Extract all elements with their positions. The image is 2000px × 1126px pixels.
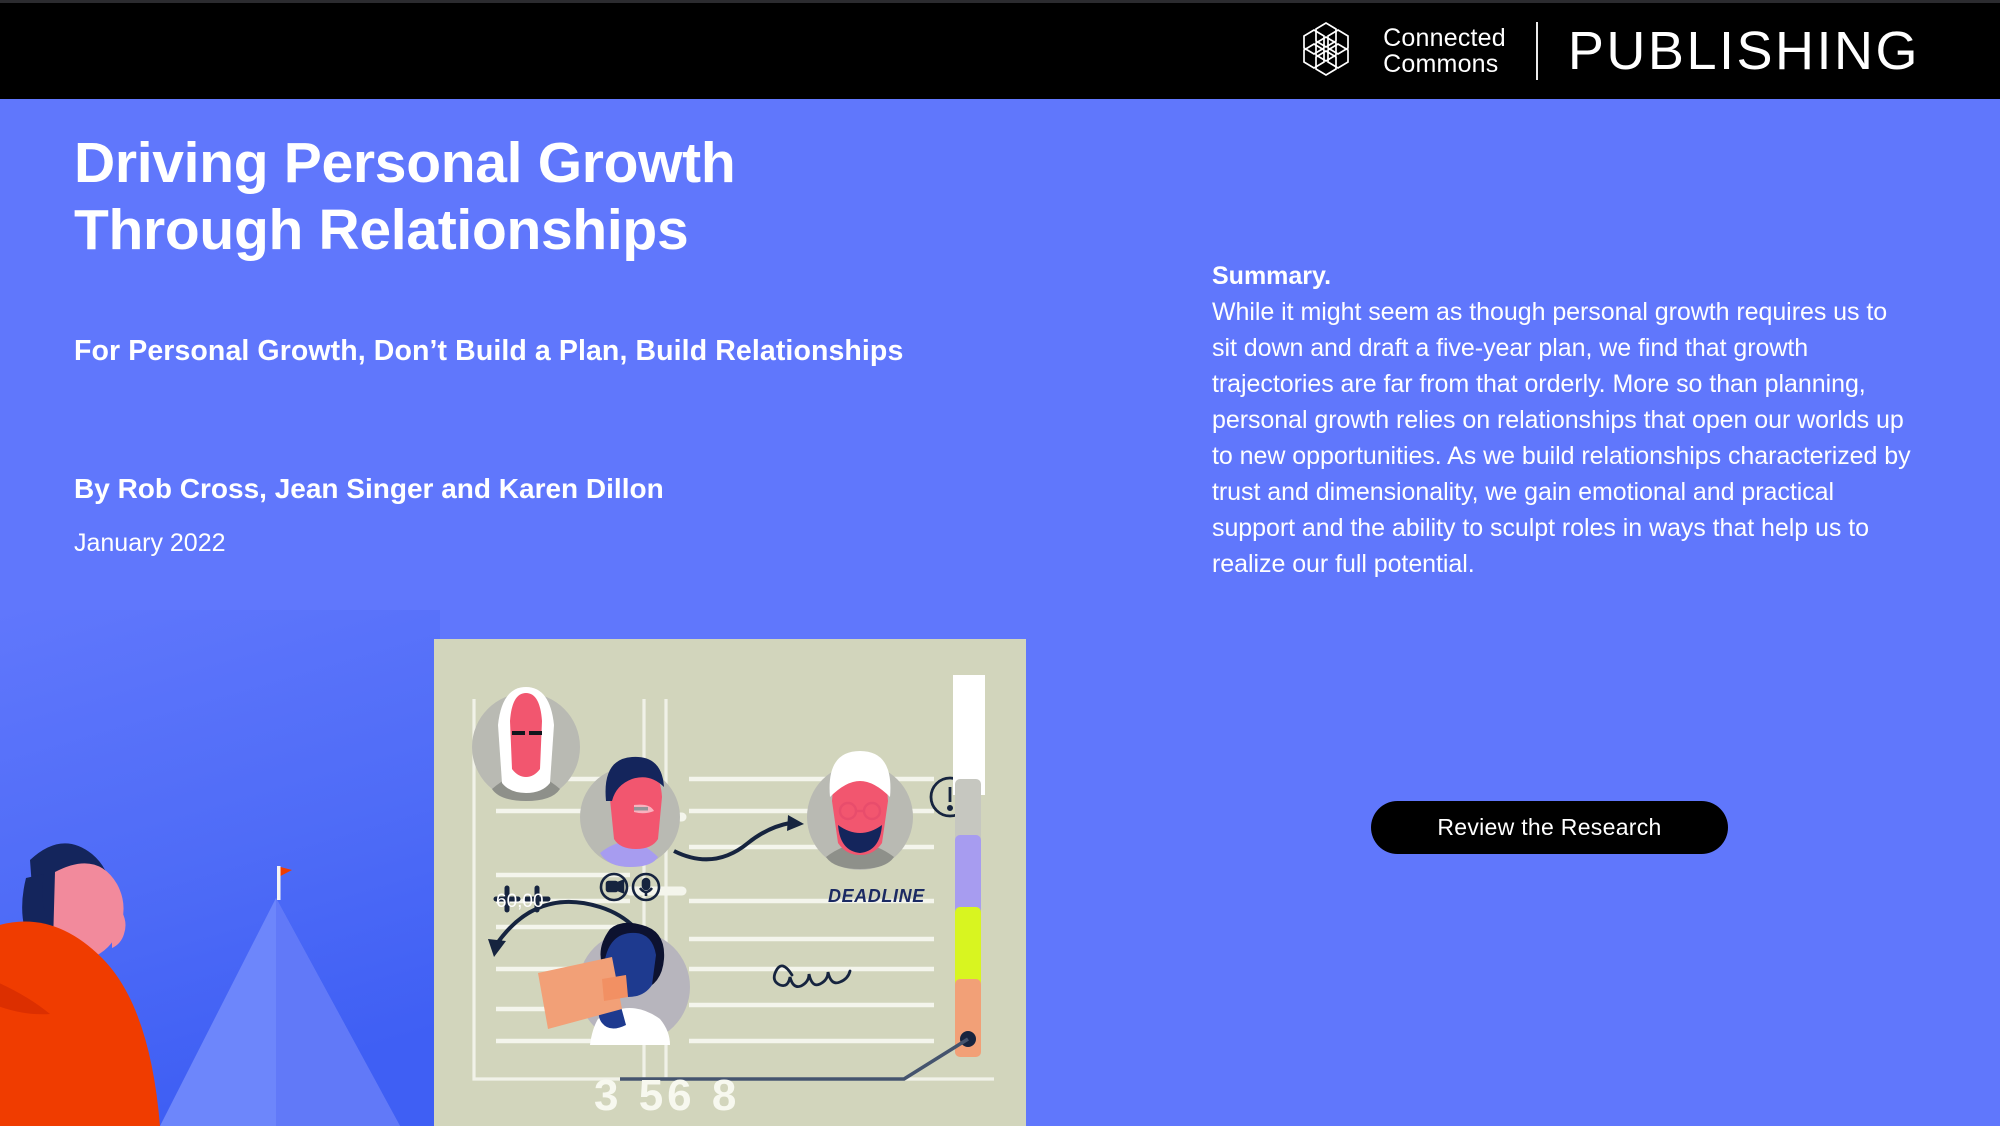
page-title-line2: Through Relationships bbox=[74, 198, 688, 262]
page-root: Connected Commons PUBLISHING Driving Per… bbox=[0, 0, 2000, 1126]
summary-text: While it might seem as though personal g… bbox=[1212, 294, 1912, 582]
site-header: Connected Commons PUBLISHING bbox=[0, 0, 2000, 99]
status-color-bar bbox=[953, 675, 985, 1057]
author-byline: By Rob Cross, Jean Singer and Karen Dill… bbox=[74, 473, 664, 505]
brand-divider bbox=[1536, 22, 1538, 80]
brand-name: Connected Commons bbox=[1383, 25, 1506, 77]
review-the-research-button[interactable]: Review the Research bbox=[1371, 801, 1728, 854]
amount-label: 60,00 bbox=[496, 891, 544, 913]
brand-lockup[interactable]: Connected Commons PUBLISHING bbox=[1295, 21, 1920, 81]
publication-date: January 2022 bbox=[74, 529, 226, 558]
page-subtitle: For Personal Growth, Don’t Build a Plan,… bbox=[74, 335, 903, 368]
summary-label: Summary. bbox=[1212, 258, 1912, 294]
summary-block: Summary. While it might seem as though p… bbox=[1212, 258, 1912, 582]
mountain-scene-illustration bbox=[0, 610, 440, 1126]
counter-digits: 3 56 8 bbox=[594, 1071, 740, 1121]
collaboration-illustration-card: 60,00 bbox=[434, 639, 1026, 1126]
brand-name-line1: Connected bbox=[1383, 25, 1506, 51]
deadline-label: DEADLINE bbox=[828, 886, 925, 907]
honeycomb-hexagons-icon bbox=[1295, 21, 1357, 81]
section-label: PUBLISHING bbox=[1568, 24, 1920, 78]
page-title: Driving Personal Growth Through Relation… bbox=[74, 130, 934, 265]
brand-name-line2: Commons bbox=[1383, 51, 1506, 77]
page-title-line1: Driving Personal Growth bbox=[74, 131, 735, 195]
